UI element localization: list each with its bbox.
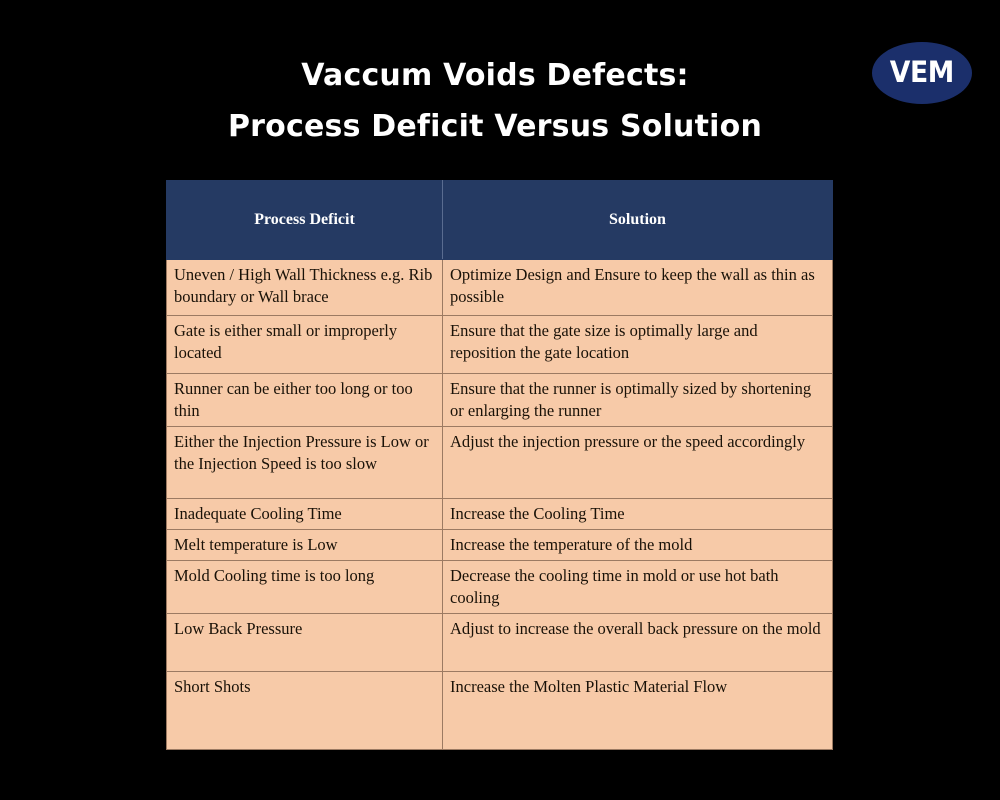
cell-process-deficit: Low Back Pressure (167, 614, 443, 672)
table-row: Gate is either small or improperly locat… (167, 316, 833, 374)
cell-solution: Adjust the injection pressure or the spe… (443, 427, 833, 499)
process-deficit-solution-table: Process Deficit Solution Uneven / High W… (166, 180, 833, 750)
table-row: Mold Cooling time is too longDecrease th… (167, 561, 833, 614)
page-title-line-2: Process Deficit Versus Solution (0, 101, 990, 152)
cell-solution: Ensure that the runner is optimally size… (443, 374, 833, 427)
cell-solution: Adjust to increase the overall back pres… (443, 614, 833, 672)
column-header-process-deficit: Process Deficit (167, 181, 443, 260)
page-title: Vaccum Voids Defects: Process Deficit Ve… (0, 50, 1000, 152)
cell-process-deficit: Melt temperature is Low (167, 530, 443, 561)
cell-process-deficit: Either the Injection Pressure is Low or … (167, 427, 443, 499)
table-header-row: Process Deficit Solution (167, 181, 833, 260)
table-row: Runner can be either too long or too thi… (167, 374, 833, 427)
column-header-solution: Solution (443, 181, 833, 260)
comparison-table-container: Process Deficit Solution Uneven / High W… (166, 180, 832, 750)
cell-process-deficit: Gate is either small or improperly locat… (167, 316, 443, 374)
cell-process-deficit: Uneven / High Wall Thickness e.g. Rib bo… (167, 260, 443, 316)
cell-process-deficit: Inadequate Cooling Time (167, 499, 443, 530)
cell-solution: Increase the Cooling Time (443, 499, 833, 530)
cell-solution: Increase the Molten Plastic Material Flo… (443, 672, 833, 750)
cell-process-deficit: Runner can be either too long or too thi… (167, 374, 443, 427)
cell-solution: Increase the temperature of the mold (443, 530, 833, 561)
cell-solution: Ensure that the gate size is optimally l… (443, 316, 833, 374)
table-row: Uneven / High Wall Thickness e.g. Rib bo… (167, 260, 833, 316)
table-row: Melt temperature is LowIncrease the temp… (167, 530, 833, 561)
cell-solution: Decrease the cooling time in mold or use… (443, 561, 833, 614)
cell-process-deficit: Mold Cooling time is too long (167, 561, 443, 614)
cell-process-deficit: Short Shots (167, 672, 443, 750)
page-title-line-1: Vaccum Voids Defects: (0, 50, 990, 101)
table-row: Inadequate Cooling TimeIncrease the Cool… (167, 499, 833, 530)
table-row: Either the Injection Pressure is Low or … (167, 427, 833, 499)
table-row: Low Back PressureAdjust to increase the … (167, 614, 833, 672)
table-row: Short ShotsIncrease the Molten Plastic M… (167, 672, 833, 750)
cell-solution: Optimize Design and Ensure to keep the w… (443, 260, 833, 316)
